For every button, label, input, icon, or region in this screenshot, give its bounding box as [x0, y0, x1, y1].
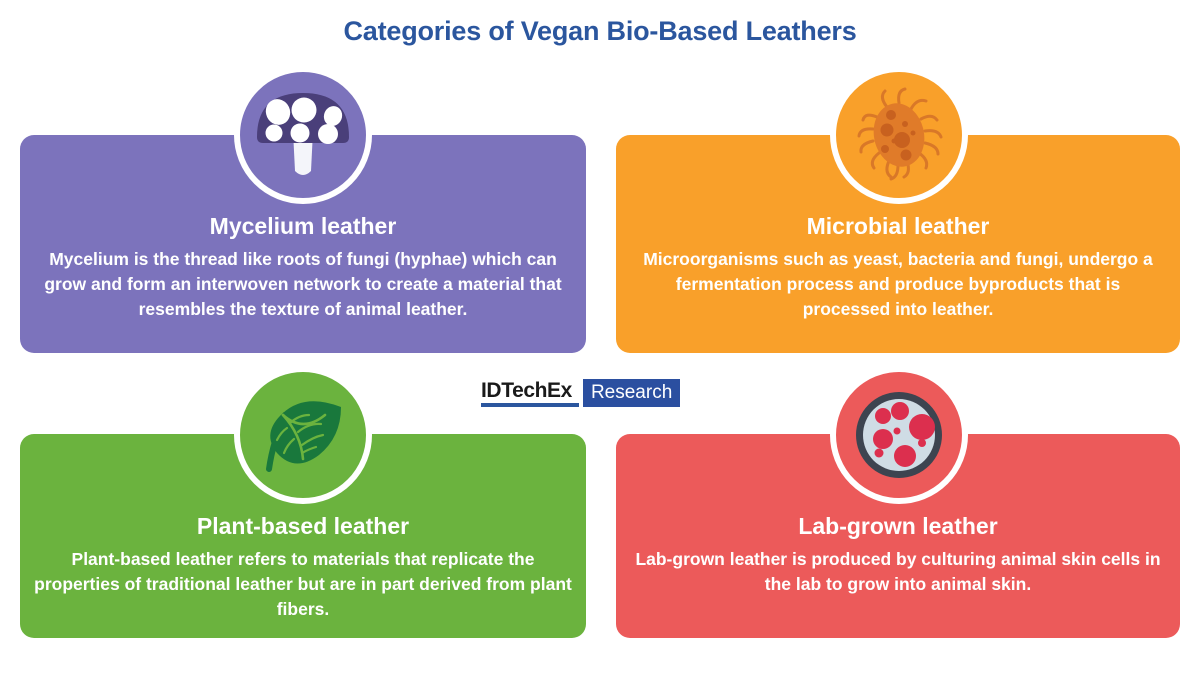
card-description-lab-grown: Lab-grown leather is produced by culturi…: [630, 547, 1166, 597]
logo-research-badge: Research: [583, 379, 680, 407]
card-description-microbial: Microorganisms such as yeast, bacteria a…: [630, 247, 1166, 322]
leaf-icon: [253, 385, 353, 485]
medallion-plant-based: [234, 366, 372, 504]
card-description-mycelium: Mycelium is the thread like roots of fun…: [34, 247, 572, 322]
medallion-microbial: [830, 66, 968, 204]
medallion-mycelium: [234, 66, 372, 204]
idtechex-research-logo: IDTechEx Research: [481, 379, 680, 407]
infographic-canvas: Categories of Vegan Bio-Based Leathers M…: [0, 0, 1200, 675]
bacteria-icon: [847, 83, 951, 187]
page-title: Categories of Vegan Bio-Based Leathers: [0, 16, 1200, 47]
petri-dish-icon: [849, 385, 949, 485]
card-description-plant-based: Plant-based leather refers to materials …: [34, 547, 572, 622]
medallion-lab-grown: [830, 366, 968, 504]
mushroom-icon: [251, 85, 355, 185]
card-title-lab-grown: Lab-grown leather: [630, 513, 1166, 539]
logo-wordmark: IDTechEx: [481, 379, 579, 407]
card-title-plant-based: Plant-based leather: [34, 513, 572, 539]
card-title-microbial: Microbial leather: [630, 213, 1166, 239]
card-title-mycelium: Mycelium leather: [34, 213, 572, 239]
